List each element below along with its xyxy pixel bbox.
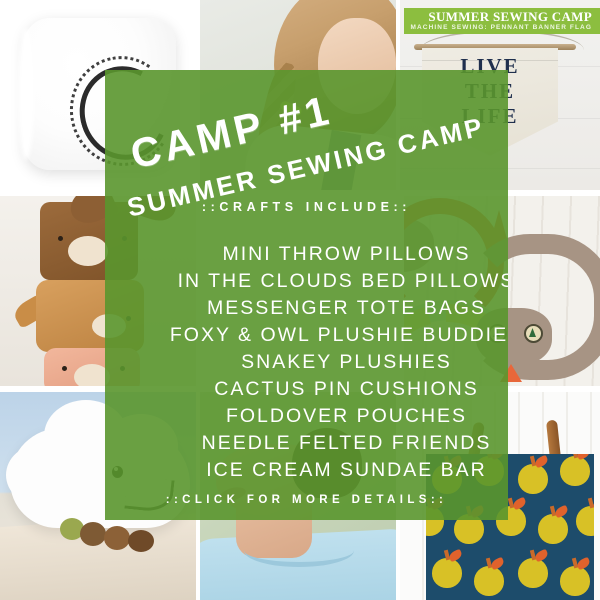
overlay-title-block: CAMP #1 SUMMER SEWING CAMP	[105, 76, 508, 206]
label-bar-title: SUMMER SEWING CAMP	[428, 9, 592, 25]
apple-motif	[432, 558, 462, 588]
felt-eye-shape	[58, 236, 63, 241]
camp-promo-collage: LIVE THE LIFE	[0, 0, 600, 600]
apple-motif	[518, 558, 548, 588]
apple-motif	[518, 464, 548, 494]
pom-pom	[128, 530, 154, 552]
snake-eye	[524, 324, 543, 343]
felt-eye-shape	[62, 366, 67, 371]
click-for-more-details-cta[interactable]: ::CLICK FOR MORE DETAILS::	[105, 494, 508, 506]
apple-motif	[560, 566, 590, 596]
apple-motif	[560, 456, 590, 486]
list-item: MINI THROW PILLOWS	[145, 241, 508, 268]
summer-sewing-camp-label-bar: SUMMER SEWING CAMP MACHINE SEWING: PENNA…	[404, 8, 600, 34]
collar-shape	[244, 534, 354, 567]
list-item: MESSENGER TOTE BAGS	[145, 295, 508, 322]
list-item: NEEDLE FELTED FRIENDS	[145, 430, 508, 457]
camp-info-overlay[interactable]: CAMP #1 SUMMER SEWING CAMP ::CRAFTS INCL…	[105, 70, 508, 520]
list-item: IN THE CLOUDS BED PILLOWS	[145, 268, 508, 295]
crafts-include-heading: ::CRAFTS INCLUDE::	[105, 200, 508, 214]
pom-pom	[104, 526, 130, 550]
crafts-list: MINI THROW PILLOWS IN THE CLOUDS BED PIL…	[105, 241, 508, 484]
apple-motif	[538, 514, 568, 544]
list-item: ICE CREAM SUNDAE BAR	[145, 457, 508, 484]
pom-pom	[80, 522, 106, 546]
list-item: SNAKEY PLUSHIES	[145, 349, 508, 376]
cloud-bump	[6, 444, 76, 506]
list-item: CACTUS PIN CUSHIONS	[145, 376, 508, 403]
label-bar-subtitle: MACHINE SEWING: PENNANT BANNER FLAG	[411, 24, 593, 31]
apple-motif	[576, 506, 594, 536]
felt-snout-shape	[68, 236, 108, 266]
apple-motif	[474, 566, 504, 596]
list-item: FOXY & OWL PLUSHIE BUDDIES	[145, 322, 508, 349]
list-item: FOLDOVER POUCHES	[145, 403, 508, 430]
